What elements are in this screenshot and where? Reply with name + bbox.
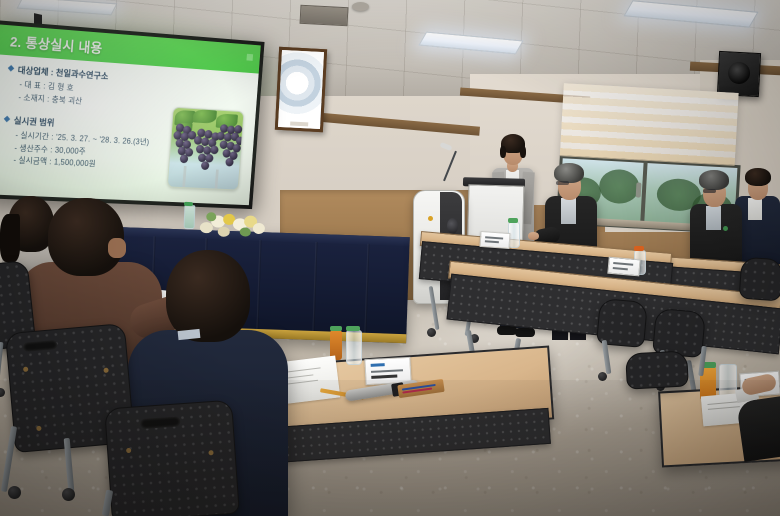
slide-bullet-text: 실시권 범위: [13, 115, 55, 129]
attendee-right-edge: [736, 394, 780, 462]
attendee-hair: [554, 163, 584, 183]
diamond-bullet-icon: ◆: [8, 63, 15, 73]
chair[interactable]: [625, 350, 689, 389]
projection-screen: 2. 통상실시 내용 ◆ 대상업체 : 천일과수연구소 - 대 표 : 김 형 …: [0, 20, 265, 209]
attendee-hand: [528, 232, 539, 240]
attendee-hair: [699, 170, 729, 190]
window-handle[interactable]: [636, 182, 642, 197]
framed-picture-art: [278, 50, 324, 129]
attendee-hair: [745, 168, 771, 186]
chair-caster: [8, 486, 21, 499]
flower-arrangement: [196, 210, 267, 240]
chair[interactable]: [104, 400, 240, 516]
air-purifier-led-icon: [428, 216, 433, 221]
attendee-head: [166, 250, 250, 342]
picture-label-plate: [290, 121, 308, 126]
attendee-head: [48, 198, 124, 276]
presenter-shoe: [515, 328, 535, 337]
trellis-post: [215, 170, 219, 189]
grape-leaf: [193, 109, 217, 124]
slide-bullet-list: ◆ 대상업체 : 천일과수연구소 - 대 표 : 김 형 호 - 소재지 : 충…: [0, 63, 169, 174]
blind-daylight-glow: [560, 83, 739, 165]
trellis-post: [182, 166, 186, 187]
wall-speaker-icon: [717, 51, 761, 97]
presenter-shoe: [497, 326, 517, 335]
attendee-hair-strand: [0, 214, 20, 262]
name-card: [607, 257, 640, 277]
water-bottle[interactable]: [346, 330, 362, 365]
slide-grape-photo: [167, 107, 245, 191]
smoke-detector-icon: [352, 2, 369, 11]
slide-accent-dot: [246, 54, 253, 61]
slide-title: 2. 통상실시 내용: [9, 30, 103, 57]
table-caster: [427, 328, 436, 337]
chair[interactable]: [739, 257, 780, 302]
chair-caster: [598, 372, 607, 381]
air-purifier-vent: [447, 218, 458, 234]
bottle-cap: [634, 246, 644, 251]
conference-room-photo: 2. 통상실시 내용 ◆ 대상업체 : 천일과수연구소 - 대 표 : 김 형 …: [0, 0, 780, 516]
framed-picture: [275, 47, 327, 132]
bottle-cap: [330, 326, 342, 331]
outdoor-foliage: [598, 168, 640, 204]
attendee-shirt: [561, 198, 576, 224]
water-bottle[interactable]: [184, 205, 196, 229]
presenter-hair-side: [520, 146, 526, 158]
eyeglasses-icon: [556, 181, 569, 185]
attendee-ear: [108, 238, 126, 258]
presenter-hair-side: [500, 146, 506, 158]
ceiling-vent: [300, 5, 349, 26]
speaker-cone: [727, 61, 750, 84]
bottle-cap: [508, 218, 518, 223]
lapel-pin-icon: [723, 226, 728, 231]
slide-body: ◆ 대상업체 : 천일과수연구소 - 대 표 : 김 형 호 - 소재지 : 충…: [0, 54, 259, 205]
chair-caster: [62, 488, 75, 501]
name-card: [479, 231, 510, 249]
bottle-cap: [184, 202, 193, 206]
presentation-slide: 2. 통상실시 내용 ◆ 대상업체 : 천일과수연구소 - 대 표 : 김 형 …: [0, 24, 261, 205]
diamond-bullet-icon: ◆: [4, 114, 11, 124]
bottle-cap: [346, 326, 360, 331]
eyeglasses-icon: [703, 189, 716, 193]
attendee-shirt: [706, 206, 721, 230]
attendee-shirt: [748, 198, 762, 220]
